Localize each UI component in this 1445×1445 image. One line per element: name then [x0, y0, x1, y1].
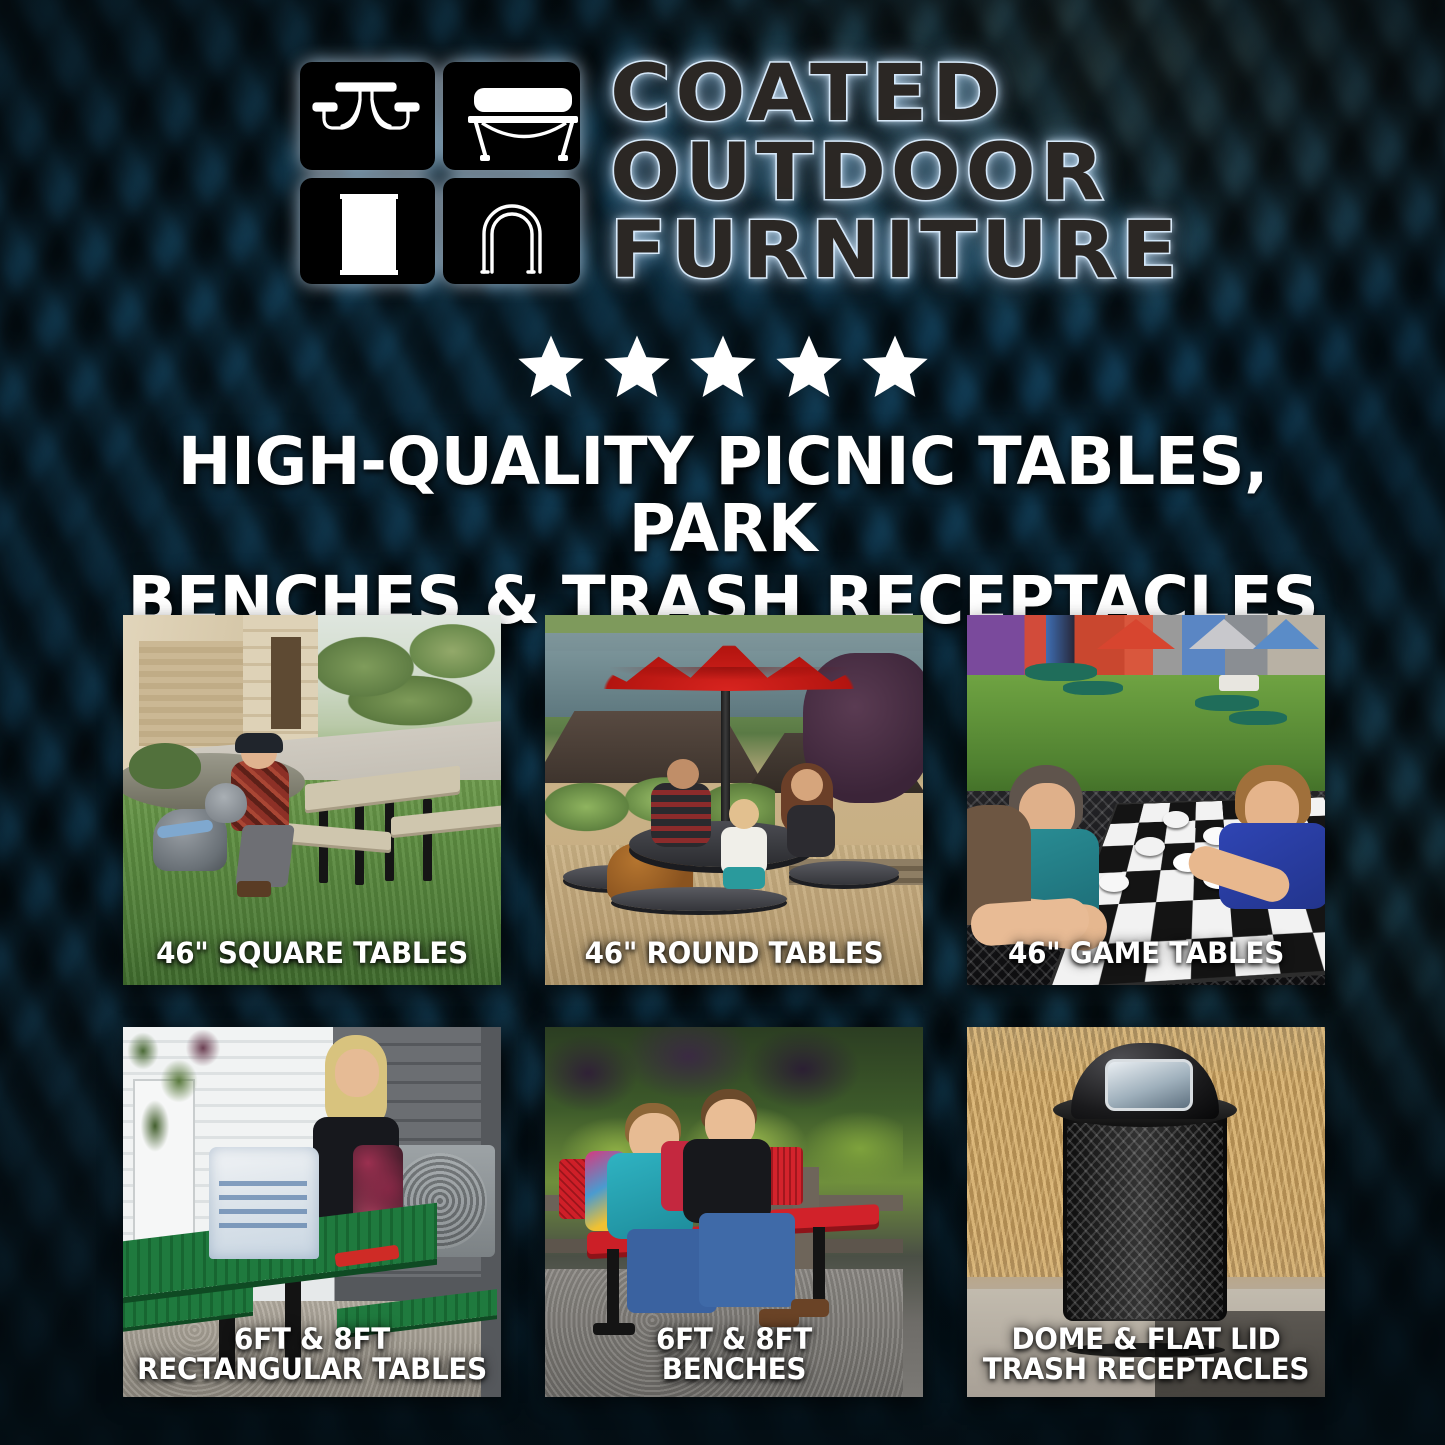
caption-line-2: BENCHES — [553, 1354, 916, 1385]
caption-line-1: 6FT & 8FT — [553, 1324, 916, 1355]
product-tile-square-tables[interactable]: 46" SQUARE TABLES — [123, 615, 501, 985]
star-icon — [687, 332, 759, 402]
star-icon — [515, 332, 587, 402]
product-tile-rectangular-tables[interactable]: 6FT & 8FT RECTANGULAR TABLES — [123, 1027, 501, 1397]
trash-receptacle-icon — [340, 194, 398, 275]
rating-stars — [0, 332, 1445, 402]
brand-name-line-3: FURNITURE — [610, 215, 1182, 288]
product-photo-round-tables — [545, 615, 923, 985]
caption-line-2: RECTANGULAR TABLES — [131, 1354, 494, 1385]
product-caption: DOME & FLAT LID TRASH RECEPTACLES — [974, 1324, 1318, 1385]
product-grid: 46" SQUARE TABLES — [123, 615, 1323, 1397]
logo-icon-grid — [296, 58, 584, 288]
product-caption: 46" GAME TABLES — [974, 938, 1318, 969]
star-icon — [773, 332, 845, 402]
caption-line-2: TRASH RECEPTACLES — [974, 1354, 1318, 1385]
caption-line-1: 46" GAME TABLES — [974, 938, 1318, 969]
product-photo-square-tables — [123, 615, 501, 985]
caption-line-1: 46" ROUND TABLES — [553, 938, 916, 969]
product-tile-round-tables[interactable]: 46" ROUND TABLES — [545, 615, 923, 985]
caption-line-1: 6FT & 8FT — [131, 1324, 494, 1355]
caption-line-1: DOME & FLAT LID — [974, 1324, 1318, 1355]
product-photo-game-tables — [967, 615, 1325, 985]
brand-name-line-2: OUTDOOR — [610, 137, 1182, 210]
headline: HIGH-QUALITY PICNIC TABLES, PARK BENCHES… — [78, 428, 1368, 634]
star-icon — [859, 332, 931, 402]
brand-logo: COATED OUTDOOR FURNITURE — [0, 58, 1445, 288]
product-caption: 6FT & 8FT BENCHES — [553, 1324, 916, 1385]
promo-graphic: COATED OUTDOOR FURNITURE HIGH-QUALITY PI… — [0, 0, 1445, 1445]
brand-wordmark: COATED OUTDOOR FURNITURE — [610, 58, 1149, 288]
product-tile-benches[interactable]: 6FT & 8FT BENCHES — [545, 1027, 923, 1397]
brand-name-line-1: COATED — [610, 58, 1182, 131]
product-caption: 46" ROUND TABLES — [553, 938, 916, 969]
caption-line-1: 46" SQUARE TABLES — [131, 938, 494, 969]
product-caption: 6FT & 8FT RECTANGULAR TABLES — [131, 1324, 494, 1385]
product-tile-trash-receptacles[interactable]: DOME & FLAT LID TRASH RECEPTACLES — [967, 1027, 1325, 1397]
headline-line-1: HIGH-QUALITY PICNIC TABLES, PARK — [97, 428, 1348, 563]
star-icon — [601, 332, 673, 402]
product-tile-game-tables[interactable]: 46" GAME TABLES — [967, 615, 1325, 985]
product-caption: 46" SQUARE TABLES — [131, 938, 494, 969]
